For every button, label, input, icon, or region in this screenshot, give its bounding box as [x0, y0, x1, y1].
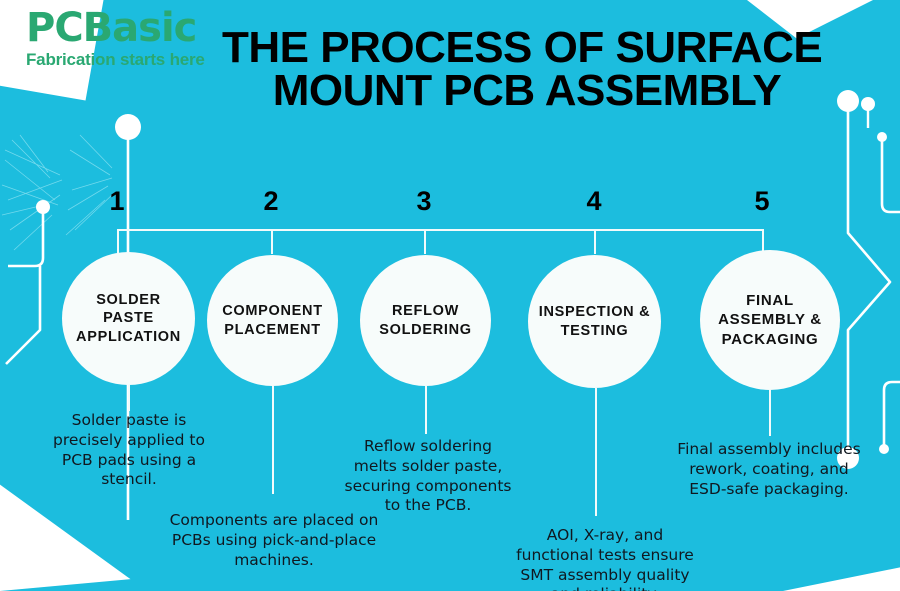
step-circle-label-4: INSPECTION & TESTING: [528, 303, 661, 340]
step-stem-1: [128, 385, 130, 411]
step-number-5: 5: [732, 186, 792, 217]
infographic-poster: PCBasic Fabrication starts here THE PROC…: [0, 0, 900, 591]
logo-tagline: Fabrication starts here: [26, 50, 226, 70]
step-description-2: Components are placed on PCBs using pick…: [158, 511, 390, 570]
step-circle-2[interactable]: COMPONENT PLACEMENT: [207, 255, 338, 386]
step-stem-4: [595, 388, 597, 516]
step-description-1: Solder paste is precisely applied to PCB…: [48, 411, 210, 490]
logo-wordmark: PCBasic: [26, 8, 226, 48]
step-stem-2: [272, 386, 274, 494]
step-description-4: AOI, X-ray, and functional tests ensure …: [510, 526, 700, 591]
step-stem-3: [425, 386, 427, 434]
step-circle-1[interactable]: SOLDER PASTE APPLICATION: [62, 252, 195, 385]
brand-logo[interactable]: PCBasic Fabrication starts here: [26, 8, 226, 70]
step-number-1: 1: [87, 186, 147, 217]
step-circle-4[interactable]: INSPECTION & TESTING: [528, 255, 661, 388]
connector-drop-3: [424, 229, 426, 254]
connector-drop-1: [117, 229, 119, 254]
connector-drop-2: [271, 229, 273, 254]
connector-drop-4: [594, 229, 596, 254]
connector-bracket: [117, 229, 763, 231]
step-circle-label-3: REFLOW SOLDERING: [360, 302, 491, 339]
step-description-3: Reflow soldering melts solder paste, sec…: [340, 437, 516, 516]
step-number-2: 2: [241, 186, 301, 217]
page-title-line-2: MOUNT PCB ASSEMBLY: [222, 69, 862, 112]
step-circle-label-2: COMPONENT PLACEMENT: [207, 302, 338, 339]
step-circle-label-5: FINAL ASSEMBLY & PACKAGING: [700, 291, 840, 349]
step-circle-5[interactable]: FINAL ASSEMBLY & PACKAGING: [700, 250, 840, 390]
step-stem-5: [769, 390, 771, 436]
page-title-line-1: THE PROCESS OF SURFACE: [222, 26, 862, 69]
step-circle-label-1: SOLDER PASTE APPLICATION: [62, 291, 195, 347]
page-title: THE PROCESS OF SURFACE MOUNT PCB ASSEMBL…: [222, 26, 862, 112]
step-number-4: 4: [564, 186, 624, 217]
step-description-5: Final assembly includes rework, coating,…: [677, 440, 861, 499]
step-circle-3[interactable]: REFLOW SOLDERING: [360, 255, 491, 386]
step-number-3: 3: [394, 186, 454, 217]
